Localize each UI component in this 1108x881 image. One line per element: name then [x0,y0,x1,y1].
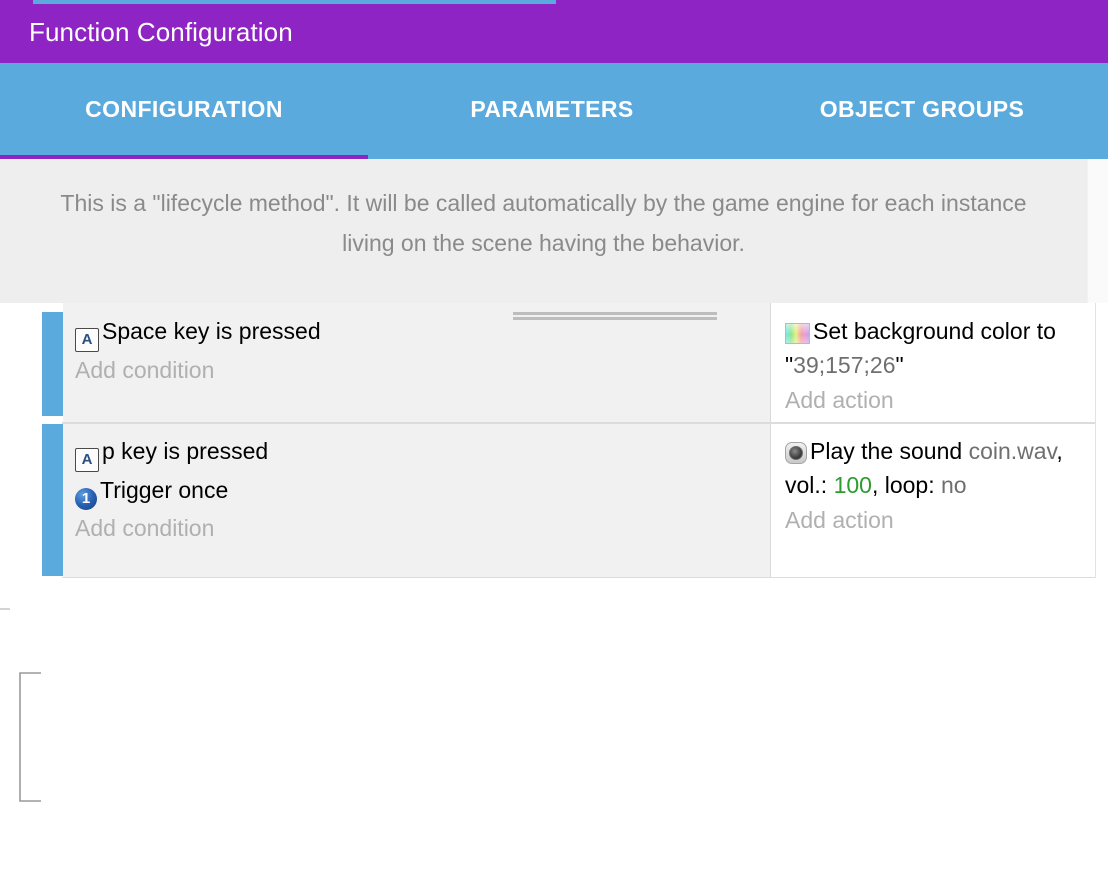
condition-parameter[interactable]: p [102,438,115,464]
events-sheet: ASpace key is pressed Add condition Set … [0,303,1108,578]
add-action-button[interactable]: Add action [785,503,1081,537]
row-separator [62,423,1095,424]
events-scrollbar[interactable] [1095,303,1108,578]
add-action-button[interactable]: Add action [785,383,1081,417]
column-resize-handle[interactable] [513,312,717,320]
event-row[interactable]: Ap key is pressed 1Trigger once Add cond… [0,423,1108,578]
action-sound-file[interactable]: coin.wav [969,438,1057,464]
event-drag-handle[interactable] [42,424,63,576]
tab-parameters-label: PARAMETERS [470,96,633,123]
top-accent-strip-highlight [33,0,556,4]
conditions-column[interactable]: ASpace key is pressed Add condition [63,303,770,423]
tab-object-groups-label: OBJECT GROUPS [820,96,1025,123]
condition-item[interactable]: 1Trigger once [75,473,770,510]
trigger-once-icon: 1 [75,488,97,510]
tab-object-groups[interactable]: OBJECT GROUPS [736,63,1108,155]
action-loop-label: , loop: [872,472,941,498]
resize-handle-bar [513,312,717,315]
speaker-icon [785,442,807,464]
color-picker-icon [785,323,810,344]
description-text: This is a "lifecycle method". It will be… [39,183,1049,263]
action-item[interactable]: Set background color to "39;157;26" [785,314,1081,382]
condition-parameter[interactable]: Space [102,318,167,344]
event-tree-bracket [0,606,62,881]
event-row[interactable]: ASpace key is pressed Add condition Set … [0,303,1108,423]
condition-text: Trigger once [100,477,228,503]
add-condition-button[interactable]: Add condition [75,353,770,387]
action-text-after: " [896,352,904,378]
tab-configuration[interactable]: CONFIGURATION [0,63,368,155]
resize-handle-bar [513,317,717,320]
page-title: Function Configuration [29,17,293,48]
actions-column[interactable]: Set background color to "39;157;26" Add … [770,303,1095,423]
tab-parameters[interactable]: PARAMETERS [368,63,736,155]
event-drag-handle[interactable] [42,312,63,416]
tab-configuration-label: CONFIGURATION [85,96,283,123]
action-item[interactable]: Play the sound coin.wav, vol.: 100, loop… [785,434,1081,502]
condition-item[interactable]: Ap key is pressed [75,434,770,472]
keyboard-key-icon: A [75,448,99,472]
description-scrollbar[interactable] [1087,159,1108,303]
action-loop-value[interactable]: no [941,472,967,498]
condition-text: key is pressed [115,438,268,464]
dialog-title-bar: Function Configuration [0,0,1108,63]
keyboard-key-icon: A [75,328,99,352]
add-condition-button[interactable]: Add condition [75,511,770,545]
actions-column[interactable]: Play the sound coin.wav, vol.: 100, loop… [770,423,1095,578]
action-parameter[interactable]: 39;157;26 [793,352,895,378]
tab-bar: CONFIGURATION PARAMETERS OBJECT GROUPS [0,63,1108,159]
action-label: Play the sound [810,438,969,464]
top-accent-strip [0,0,1108,5]
action-vol-value[interactable]: 100 [834,472,872,498]
conditions-column[interactable]: Ap key is pressed 1Trigger once Add cond… [63,423,770,578]
description-panel: This is a "lifecycle method". It will be… [0,159,1087,303]
condition-text: key is pressed [167,318,320,344]
